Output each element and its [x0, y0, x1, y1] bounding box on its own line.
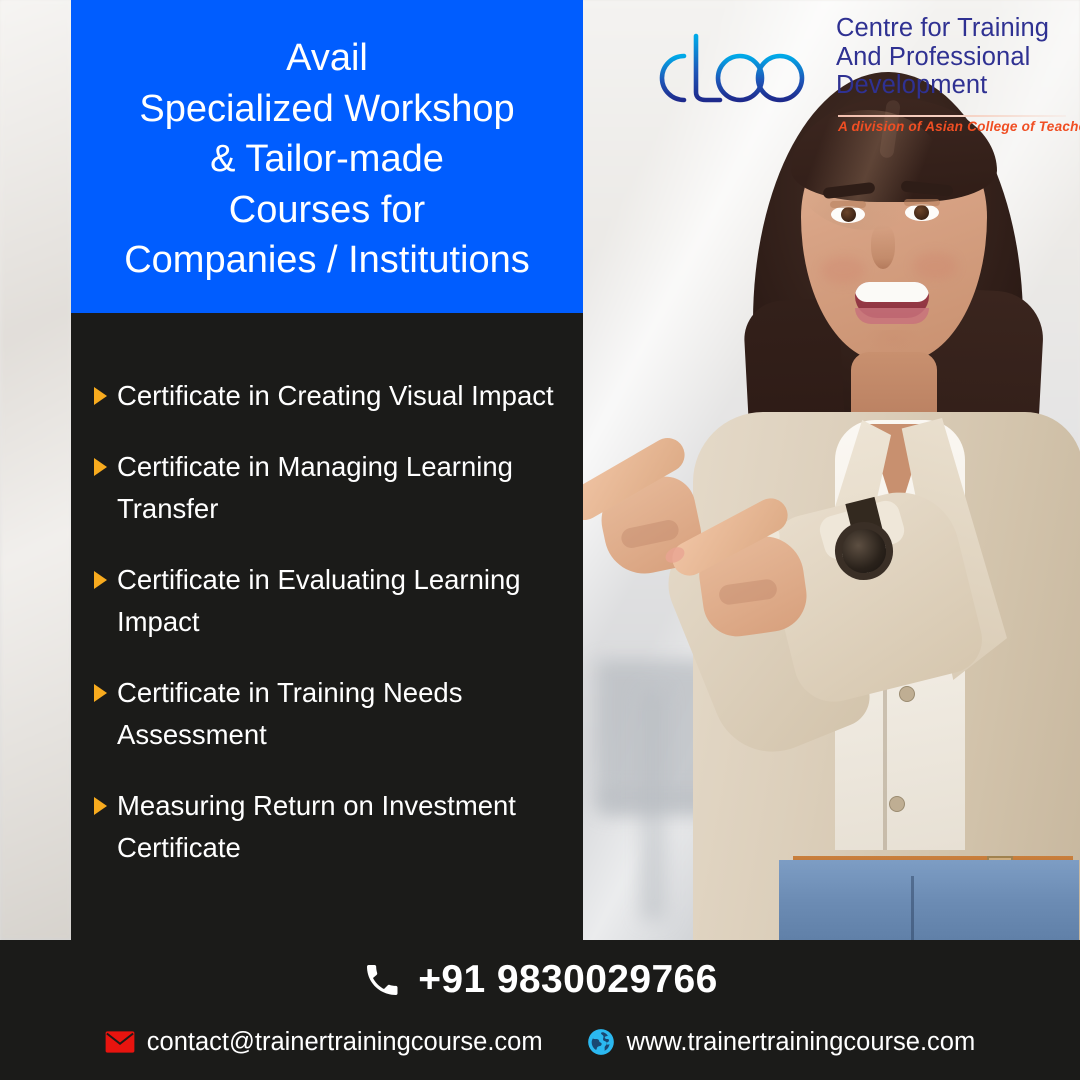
contact-links-row: contact@trainertrainingcourse.com www.tr…	[0, 1018, 1080, 1066]
email-address: contact@trainertrainingcourse.com	[147, 1028, 543, 1057]
list-item[interactable]: Certificate in Evaluating Learning Impac…	[91, 559, 565, 643]
course-list-panel: Certificate in Creating Visual Impact Ce…	[71, 313, 583, 940]
brand-name: Centre for Training And Professional Dev…	[836, 14, 1068, 100]
iris-right	[914, 205, 929, 220]
course-title: Certificate in Training Needs Assessment	[117, 672, 565, 756]
phone-number: +91 9830029766	[418, 958, 718, 1002]
headline-line-1: Avail	[286, 33, 368, 84]
website-url: www.trainertrainingcourse.com	[627, 1028, 976, 1057]
list-item[interactable]: Certificate in Training Needs Assessment	[91, 672, 565, 756]
triangle-bullet-icon	[94, 458, 107, 476]
eyelid-right	[904, 199, 940, 206]
blazer-button	[899, 686, 915, 702]
iris-left	[841, 207, 856, 222]
contact-footer: +91 9830029766 contact@trainertrainingco…	[0, 940, 1080, 1080]
chin-shading	[853, 330, 933, 370]
list-item[interactable]: Measuring Return on Investment Certifica…	[91, 785, 565, 869]
ctpd-logo[interactable]: Centre for Training And Professional Dev…	[648, 12, 1068, 136]
brand-name-line-2: And Professional	[836, 43, 1068, 72]
brand-tagline: A division of Asian College of Teachers	[838, 119, 1070, 134]
nose	[871, 225, 895, 269]
left-background-strip	[0, 0, 72, 940]
headline-line-5: Companies / Institutions	[124, 235, 530, 286]
presenter-photo	[583, 0, 1080, 940]
cheek-right	[913, 252, 957, 280]
brand-name-line-3: Development	[836, 71, 1068, 100]
poster-canvas: Centre for Training And Professional Dev…	[0, 0, 1080, 1080]
headline-line-2: Specialized Workshop	[139, 84, 514, 135]
course-title: Certificate in Creating Visual Impact	[117, 375, 554, 417]
email-contact[interactable]: contact@trainertrainingcourse.com	[105, 1027, 543, 1057]
brand-name-line-1: Centre for Training	[836, 14, 1068, 43]
list-item[interactable]: Certificate in Creating Visual Impact	[91, 375, 565, 417]
course-title: Certificate in Managing Learning Transfe…	[117, 446, 565, 530]
headline-line-4: Courses for	[229, 185, 425, 236]
cheek-left	[821, 256, 865, 284]
course-title: Measuring Return on Investment Certifica…	[117, 785, 565, 869]
logo-divider	[838, 115, 1066, 117]
envelope-icon	[105, 1027, 135, 1057]
triangle-bullet-icon	[94, 387, 107, 405]
jeans-seam	[911, 876, 914, 940]
website-contact[interactable]: www.trainertrainingcourse.com	[587, 1028, 976, 1057]
blue-jeans	[779, 860, 1079, 940]
phone-handset-icon	[362, 960, 402, 1000]
eyelid-left	[830, 201, 866, 208]
ctpd-wordmark-icon	[648, 20, 828, 132]
triangle-bullet-icon	[94, 684, 107, 702]
headline-line-3: & Tailor-made	[210, 134, 444, 185]
globe-icon	[587, 1028, 615, 1056]
phone-contact[interactable]: +91 9830029766	[0, 952, 1080, 1008]
list-item[interactable]: Certificate in Managing Learning Transfe…	[91, 446, 565, 530]
headline-panel: Avail Specialized Workshop & Tailor-made…	[71, 0, 583, 313]
triangle-bullet-icon	[94, 797, 107, 815]
triangle-bullet-icon	[94, 571, 107, 589]
blazer-button	[889, 796, 905, 812]
course-title: Certificate in Evaluating Learning Impac…	[117, 559, 565, 643]
teeth	[855, 282, 929, 302]
lower-lip	[855, 308, 929, 324]
